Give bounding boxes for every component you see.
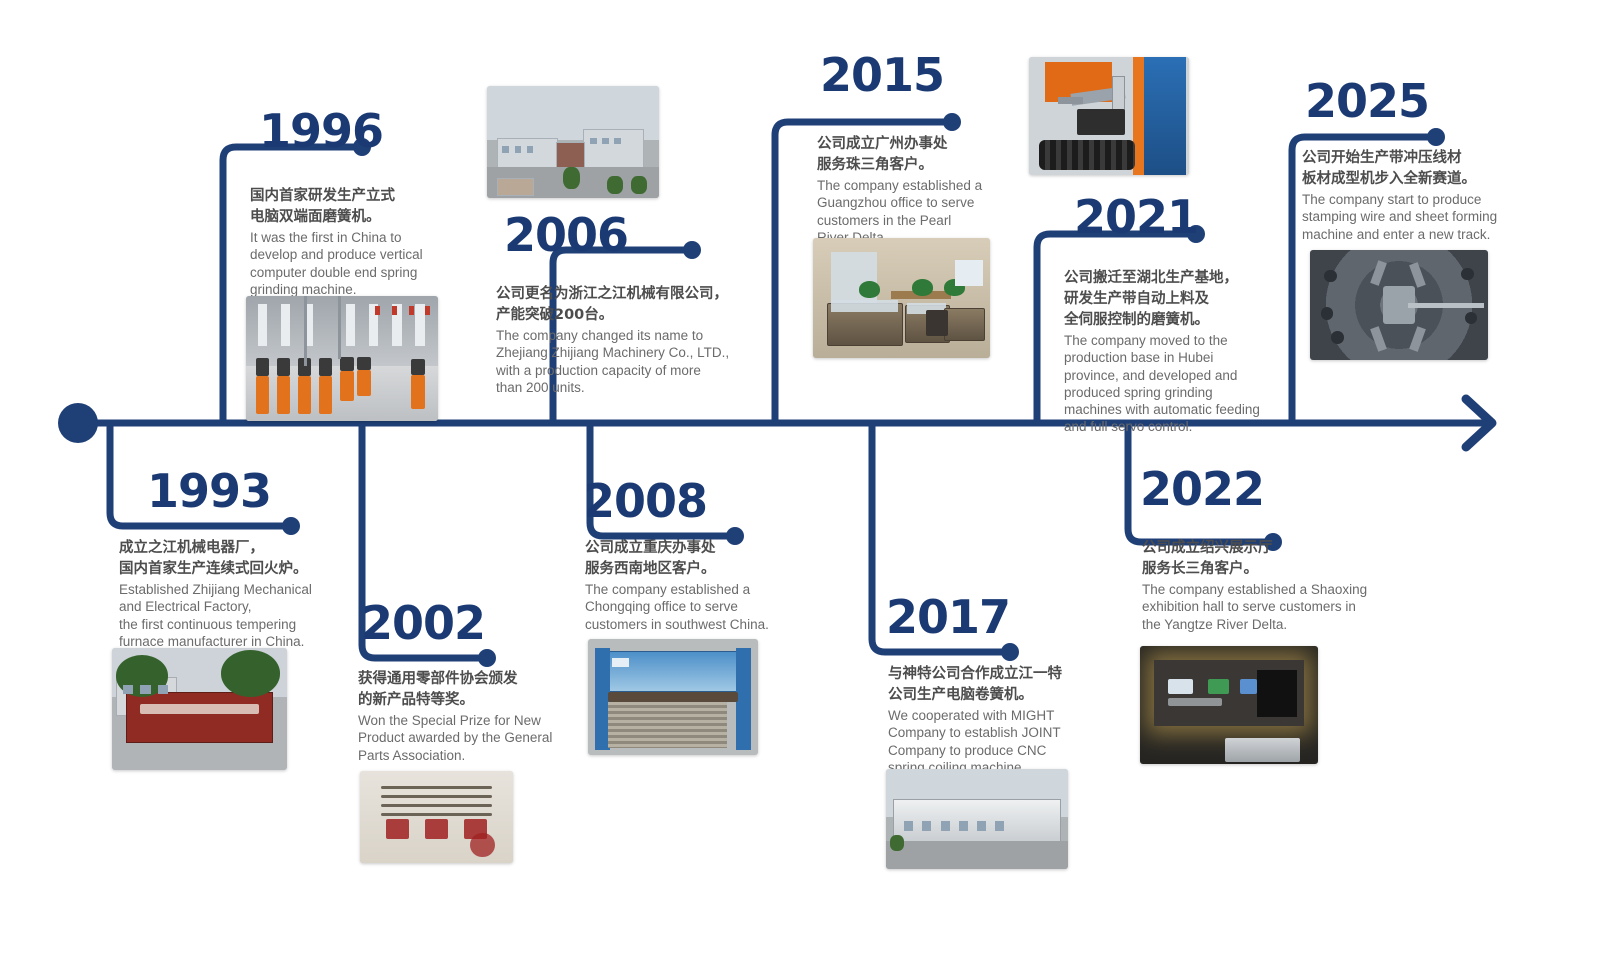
event-en-2002: Won the Special Prize for New Product aw… <box>358 712 580 764</box>
event-cn-2008: 公司成立重庆办事处 服务西南地区客户。 <box>585 538 800 580</box>
event-en-2008: The company established a Chongqing offi… <box>585 581 800 633</box>
event-cn-2021: 公司搬迁至湖北生产基地， 研发生产带自动上料及 全伺服控制的磨簧机。 <box>1064 268 1280 331</box>
event-cn-2022: 公司成立绍兴展示厅 服务长三角客户。 <box>1142 538 1392 580</box>
photo-2025-stamping-forming-machine <box>1310 250 1488 360</box>
event-2008: 2008 <box>583 478 783 524</box>
event-text-2022: 公司成立绍兴展示厅 服务长三角客户。 The company establish… <box>1142 538 1392 633</box>
photo-1993-red-wall-factory <box>112 648 287 770</box>
event-en-2006: The company changed its name to Zhejiang… <box>496 327 758 396</box>
event-text-2002: 获得通用零部件协会颁发 的新产品特等奖。 Won the Special Pri… <box>358 669 580 764</box>
event-2002: 2002 <box>361 600 561 646</box>
photo-2006-company-campus <box>487 86 659 198</box>
photo-1996-workshop <box>246 296 438 421</box>
event-year-2021: 2021 <box>1074 194 1274 240</box>
event-text-2017: 与神特公司合作成立江一特 公司生产电脑卷簧机。 We cooperated wi… <box>888 664 1092 776</box>
event-year-2022: 2022 <box>1140 466 1340 512</box>
node-dot-2025 <box>1427 128 1445 146</box>
event-en-2017: We cooperated with MIGHT Company to esta… <box>888 707 1092 776</box>
event-1993: 1993 <box>147 468 347 514</box>
photo-2021-automatic-feeding-machine <box>1029 57 1189 175</box>
photo-2017-joint-company-plant <box>886 769 1068 869</box>
event-cn-1996: 国内首家研发生产立式 电脑双端面磨簧机。 <box>250 186 455 228</box>
event-en-2022: The company established a Shaoxing exhib… <box>1142 581 1392 633</box>
event-cn-2006: 公司更名为浙江之江机械有限公司， 产能突破200台。 <box>496 284 758 326</box>
event-text-1993: 成立之江机械电器厂， 国内首家生产连续式回火炉。 Established Zhi… <box>119 538 337 650</box>
timeline-infographic: 1996 国内首家研发生产立式 电脑双端面磨簧机。 It was the fir… <box>0 0 1600 959</box>
event-2022: 2022 <box>1140 466 1340 512</box>
event-year-2008: 2008 <box>583 478 783 524</box>
event-year-2006: 2006 <box>504 212 704 258</box>
event-text-2008: 公司成立重庆办事处 服务西南地区客户。 The company establis… <box>585 538 800 633</box>
event-2021: 2021 <box>1074 194 1274 240</box>
event-2025: 2025 <box>1305 78 1505 124</box>
event-text-2021: 公司搬迁至湖北生产基地， 研发生产带自动上料及 全伺服控制的磨簧机。 The c… <box>1064 268 1280 436</box>
event-en-2021: The company moved to the production base… <box>1064 332 1280 436</box>
event-2006: 2006 <box>504 212 704 258</box>
node-dot-1993 <box>282 517 300 535</box>
photo-2015-guangzhou-office <box>813 238 990 358</box>
event-year-2002: 2002 <box>361 600 561 646</box>
event-cn-2015: 公司成立广州办事处 服务珠三角客户。 <box>817 134 1012 176</box>
photo-2002-award-certificate <box>360 771 513 863</box>
event-year-2015: 2015 <box>820 52 1020 98</box>
event-year-2017: 2017 <box>886 594 1086 640</box>
event-cn-2017: 与神特公司合作成立江一特 公司生产电脑卷簧机。 <box>888 664 1092 706</box>
event-year-1996: 1996 <box>259 108 459 154</box>
event-text-2025: 公司开始生产带冲压线材 板材成型机步入全新赛道。 The company sta… <box>1302 148 1517 243</box>
event-en-1993: Established Zhijiang Mechanical and Elec… <box>119 581 337 650</box>
node-dot-2015 <box>943 113 961 131</box>
timeline-start-dot <box>58 403 98 443</box>
event-2015: 2015 <box>820 52 1020 98</box>
event-1996: 1996 <box>259 108 459 154</box>
photo-2022-shaoxing-showroom <box>1140 646 1318 764</box>
event-en-1996: It was the first in China to develop and… <box>250 229 455 298</box>
event-2017: 2017 <box>886 594 1086 640</box>
event-text-1996: 国内首家研发生产立式 电脑双端面磨簧机。 It was the first in… <box>250 186 455 298</box>
timeline-arrow-head <box>1466 399 1492 447</box>
event-cn-1993: 成立之江机械电器厂， 国内首家生产连续式回火炉。 <box>119 538 337 580</box>
event-year-2025: 2025 <box>1305 78 1505 124</box>
node-dot-2002 <box>478 649 496 667</box>
node-dot-2017 <box>1001 643 1019 661</box>
event-cn-2002: 获得通用零部件协会颁发 的新产品特等奖。 <box>358 669 580 711</box>
event-en-2015: The company established a Guangzhou offi… <box>817 177 1012 246</box>
event-year-1993: 1993 <box>147 468 347 514</box>
event-text-2006: 公司更名为浙江之江机械有限公司， 产能突破200台。 The company c… <box>496 284 758 396</box>
photo-2008-chongqing-office <box>588 639 758 755</box>
event-text-2015: 公司成立广州办事处 服务珠三角客户。 The company establish… <box>817 134 1012 246</box>
event-cn-2025: 公司开始生产带冲压线材 板材成型机步入全新赛道。 <box>1302 148 1517 190</box>
event-en-2025: The company start to produce stamping wi… <box>1302 191 1517 243</box>
